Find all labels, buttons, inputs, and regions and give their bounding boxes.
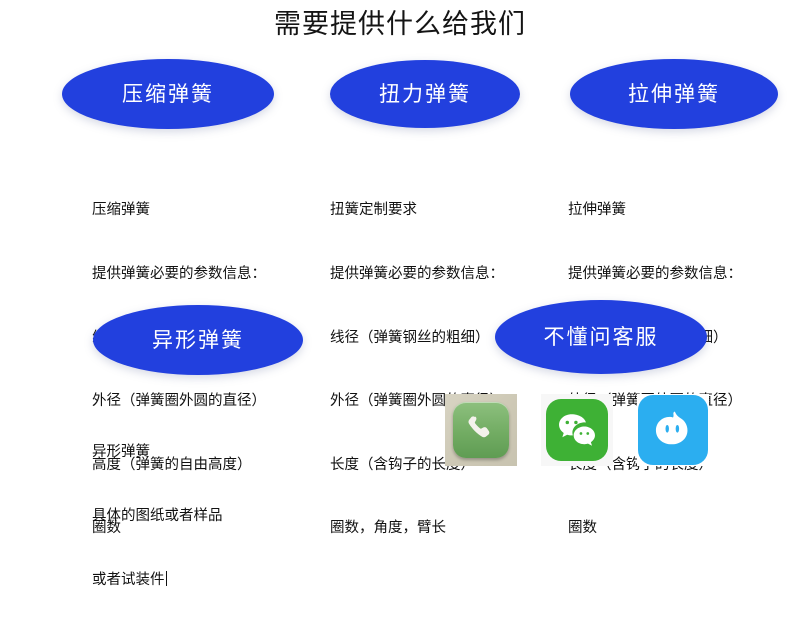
text-line: 压缩弹簧 — [92, 200, 266, 221]
text-line: 线径（弹簧钢丝的粗细） — [330, 328, 504, 349]
wechat-icon-tile — [546, 399, 608, 461]
text-line: 拉伸弹簧 — [568, 200, 742, 221]
contact-icon-row — [445, 394, 709, 466]
ellipse-custom-shaped-spring: 异形弹簧 — [93, 305, 303, 375]
text-line: 提供弹簧必要的参数信息： — [330, 264, 504, 285]
text-line: 或者试装件 — [92, 572, 165, 588]
aliwangwang-icon[interactable] — [637, 394, 709, 466]
text-caret — [166, 571, 167, 586]
text-line: 异形弹簧 — [92, 442, 223, 463]
ellipse-compression-spring-label: 压缩弹簧 — [122, 78, 214, 108]
wechat-icon[interactable] — [541, 394, 613, 466]
text-line: 提供弹簧必要的参数信息： — [568, 264, 742, 285]
infographic-canvas: 需要提供什么给我们 压缩弹簧 扭力弹簧 拉伸弹簧 压缩弹簧 提供弹簧必要的参数信… — [0, 0, 800, 500]
ellipse-extension-spring-label: 拉伸弹簧 — [628, 78, 720, 108]
ellipse-custom-shaped-spring-label: 异形弹簧 — [152, 324, 244, 354]
ellipse-extension-spring: 拉伸弹簧 — [570, 59, 778, 129]
text-line: 圈数，角度，臂长 — [330, 518, 504, 539]
text-line: 具体的图纸或者样品 — [92, 506, 223, 527]
ellipse-ask-customer-service: 不懂问客服 — [495, 300, 707, 374]
phone-icon-tile — [453, 402, 509, 458]
text-line-with-caret: 或者试装件 — [92, 570, 223, 591]
ellipse-torsion-spring: 扭力弹簧 — [330, 60, 520, 128]
text-line: 提供弹簧必要的参数信息： — [92, 264, 266, 285]
ellipse-ask-customer-service-label: 不懂问客服 — [544, 321, 659, 351]
page-title: 需要提供什么给我们 — [0, 8, 800, 42]
phone-icon[interactable] — [445, 394, 517, 466]
text-block-torsion-spring: 扭簧定制要求 提供弹簧必要的参数信息： 线径（弹簧钢丝的粗细） 外径（弹簧圈外圆… — [330, 158, 504, 582]
text-block-custom-shaped-spring: 异形弹簧 具体的图纸或者样品 或者试装件 — [92, 400, 223, 633]
aliwangwang-face-glyph — [647, 404, 699, 456]
phone-handset-glyph — [463, 412, 499, 448]
wechat-bubbles-glyph — [554, 407, 600, 453]
text-line: 圈数 — [568, 518, 742, 539]
ellipse-torsion-spring-label: 扭力弹簧 — [379, 78, 471, 108]
text-line: 扭簧定制要求 — [330, 200, 504, 221]
ellipse-compression-spring: 压缩弹簧 — [62, 59, 274, 129]
aliwangwang-icon-tile — [638, 395, 708, 465]
